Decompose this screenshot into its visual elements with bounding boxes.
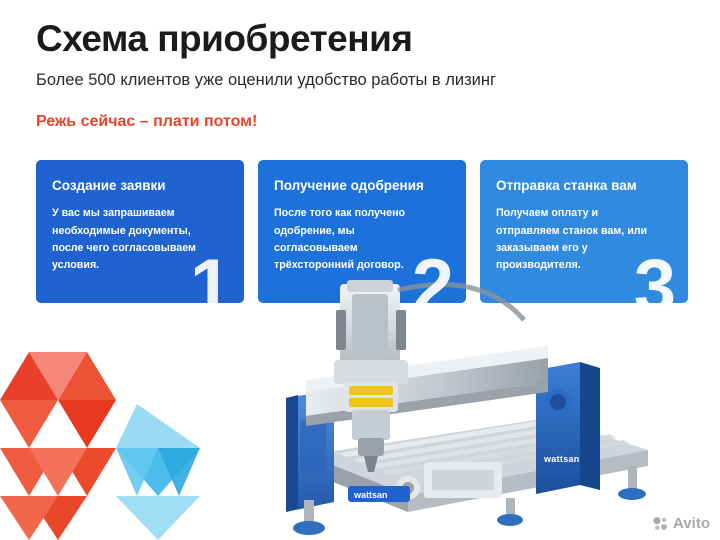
watermark-text: Avito xyxy=(673,515,710,532)
machine-brand-side: wattsan xyxy=(543,454,580,464)
decorative-triangles xyxy=(0,300,260,540)
red-triangle-group xyxy=(0,352,116,540)
step-card-3-text: Получаем оплату и отправляем станок вам,… xyxy=(496,205,661,274)
header: Схема приобретения Более 500 клиентов уж… xyxy=(36,20,686,131)
step-card-2-text: После того как получено одобрение, мы со… xyxy=(274,205,439,274)
step-card-3-title: Отправка станка вам xyxy=(496,178,672,194)
step-card-2-title: Получение одобрения xyxy=(274,178,450,194)
cnc-machine-illustration: wattsan xyxy=(248,250,678,540)
machine-brand-front: wattsan xyxy=(353,490,388,500)
blue-triangle-group xyxy=(116,404,200,540)
step-card-1-title: Создание заявки xyxy=(52,178,228,194)
watermark: Avito xyxy=(652,515,710,532)
step-card-1: Создание заявки У вас мы запрашиваем нео… xyxy=(36,160,244,303)
page-title: Схема приобретения xyxy=(36,20,686,59)
poster-canvas: Схема приобретения Более 500 клиентов уж… xyxy=(0,0,720,540)
step-card-1-text: У вас мы запрашиваем необходимые докумен… xyxy=(52,205,217,274)
page-tagline: Режь сейчас – плати потом! xyxy=(36,113,686,131)
avito-logo-icon xyxy=(652,515,669,532)
page-subtitle: Более 500 клиентов уже оценили удобство … xyxy=(36,71,686,91)
